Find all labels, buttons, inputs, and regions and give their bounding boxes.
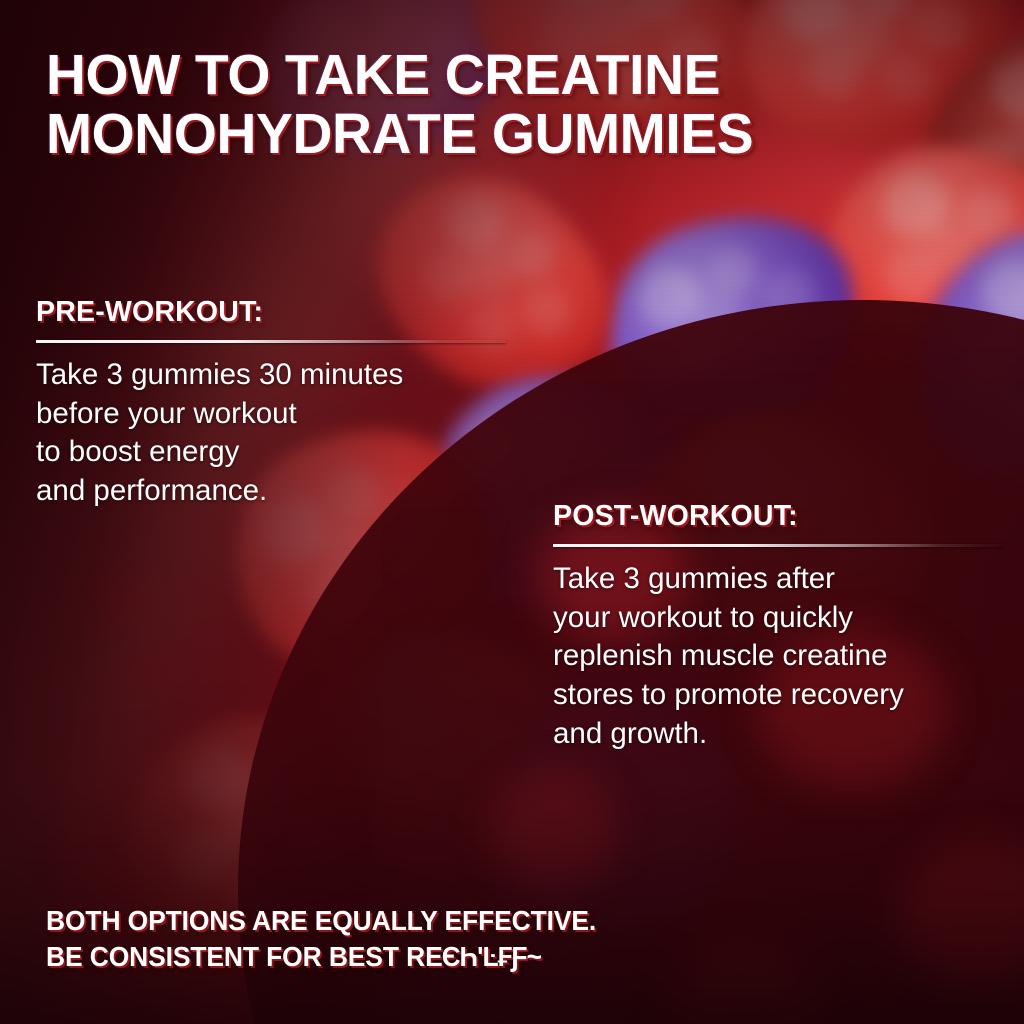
- body-line: before your workout: [36, 395, 506, 434]
- body-line: to boost energy: [36, 433, 506, 472]
- body-line: and growth.: [553, 715, 1003, 754]
- poster: HOW TO TAKE CREATINE MONOHYDRATE GUMMIES…: [0, 0, 1024, 1024]
- footer-note: BOTH OPTIONS ARE EQUALLY EFFECTIVE. BE C…: [46, 903, 596, 975]
- footer-line-2: BE CONSISTENT FOR BEST REЄҺ'Ŀ₣Ƒ~: [46, 939, 596, 975]
- headline-line-1: HOW TO TAKE CREATINE: [46, 46, 900, 105]
- page-title: HOW TO TAKE CREATINE MONOHYDRATE GUMMIES: [46, 46, 900, 163]
- footer-garbled-word: EЄҺ'Ŀ₣Ƒ~: [425, 941, 541, 972]
- body-line: your workout to quickly: [553, 599, 1003, 638]
- body-line: replenish muscle creatine: [553, 637, 1003, 676]
- post-workout-heading: POST-WORKOUT:: [553, 500, 1003, 533]
- body-line: Take 3 gummies 30 minutes: [36, 356, 506, 395]
- body-line: Take 3 gummies after: [553, 560, 1003, 599]
- poster-content: HOW TO TAKE CREATINE MONOHYDRATE GUMMIES…: [0, 0, 1024, 1024]
- section-post-workout: POST-WORKOUT: Take 3 gummies after your …: [553, 500, 1003, 753]
- body-line: stores to promote recovery: [553, 676, 1003, 715]
- pre-workout-body: Take 3 gummies 30 minutes before your wo…: [36, 356, 506, 511]
- body-line: and performance.: [36, 472, 506, 511]
- section-pre-workout: PRE-WORKOUT: Take 3 gummies 30 minutes b…: [36, 296, 506, 511]
- pre-workout-underline: [36, 340, 506, 343]
- post-workout-body: Take 3 gummies after your workout to qui…: [553, 560, 1003, 753]
- post-workout-underline: [553, 544, 1003, 547]
- headline-line-2: MONOHYDRATE GUMMIES: [46, 105, 900, 164]
- pre-workout-heading: PRE-WORKOUT:: [36, 296, 506, 329]
- footer-line-1: BOTH OPTIONS ARE EQUALLY EFFECTIVE.: [46, 903, 596, 939]
- footer-line-2-prefix: BE CONSISTENT FOR BEST R: [46, 941, 425, 972]
